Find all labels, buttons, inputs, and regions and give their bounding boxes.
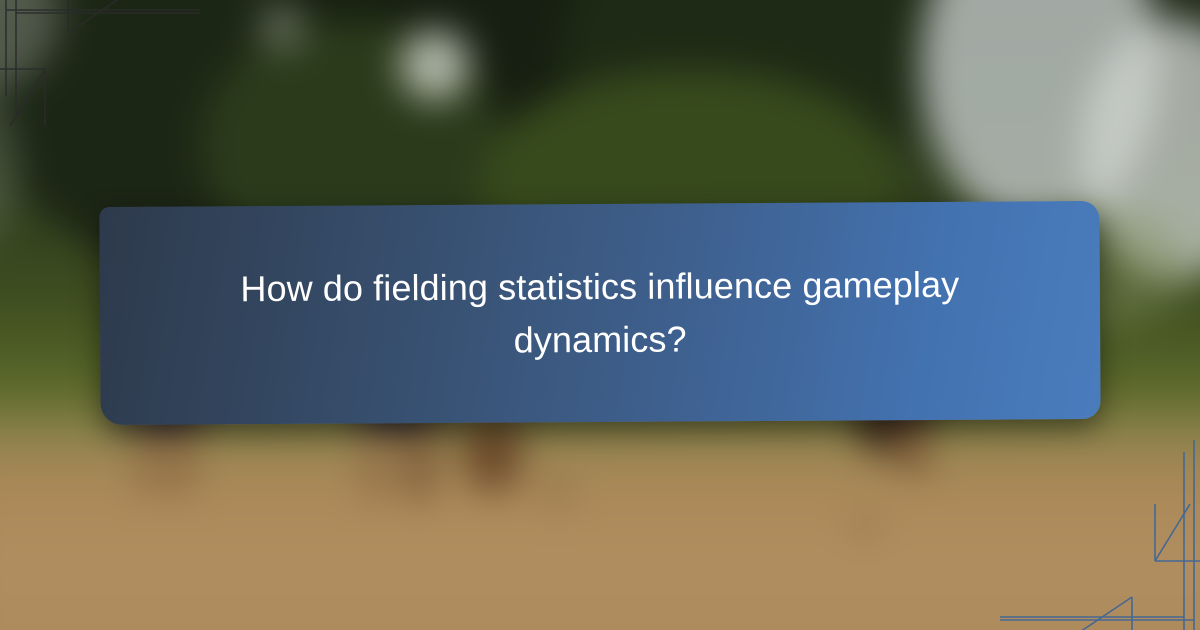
sky-highlight — [260, 5, 305, 50]
question-text: How do fielding statistics influence gam… — [130, 257, 1071, 369]
player-figure — [138, 415, 160, 495]
sand-spot — [540, 480, 574, 506]
sky-highlight — [400, 30, 470, 100]
player-figure — [362, 415, 386, 500]
question-card: How do fielding statistics influence gam… — [99, 201, 1100, 425]
sand-spot — [850, 515, 880, 539]
equipment-bag — [465, 415, 521, 491]
player-figure — [172, 415, 194, 495]
social-card-canvas: How do fielding statistics influence gam… — [0, 0, 1200, 630]
player-figure — [405, 412, 435, 500]
